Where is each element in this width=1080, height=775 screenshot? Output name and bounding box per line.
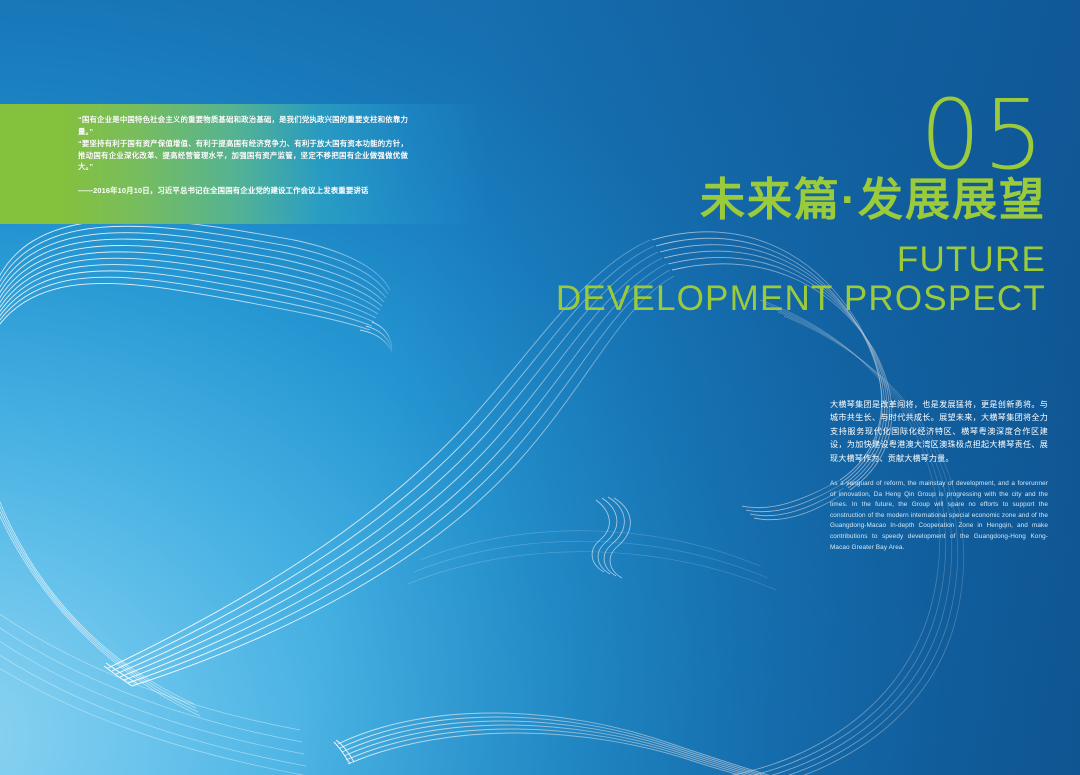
page-canvas: “国有企业是中国特色社会主义的重要物质基础和政治基础，是我们党执政兴国的重要支柱…	[0, 0, 1080, 775]
quote-banner-text: “国有企业是中国特色社会主义的重要物质基础和政治基础，是我们党执政兴国的重要支柱…	[78, 114, 408, 197]
chapter-title-english-line-2: DEVELOPMENT PROSPECT	[556, 279, 1046, 318]
body-copy-english: As a vanguard of reform, the mainstay of…	[830, 479, 1048, 553]
chapter-number: 05	[556, 92, 1046, 178]
quote-paragraph-2: “要坚持有利于国有资产保值增值、有利于提高国有经济竞争力、有利于放大国有资本功能…	[78, 138, 408, 173]
chapter-title-english: FUTURE DEVELOPMENT PROSPECT	[556, 240, 1046, 318]
chapter-title-english-line-1: FUTURE	[556, 240, 1046, 279]
chapter-heading: 05 未来篇·发展展望 FUTURE DEVELOPMENT PROSPECT	[556, 92, 1046, 318]
quote-banner: “国有企业是中国特色社会主义的重要物质基础和政治基础，是我们党执政兴国的重要支柱…	[0, 104, 486, 224]
body-copy-chinese: 大横琴集团是改革闯将，也是发展猛将，更是创新勇将。与城市共生长、与时代共成长。展…	[830, 398, 1048, 465]
quote-paragraph-1: “国有企业是中国特色社会主义的重要物质基础和政治基础，是我们党执政兴国的重要支柱…	[78, 114, 408, 137]
quote-attribution: ——2016年10月10日，习近平总书记在全国国有企业党的建设工作会议上发表重要…	[78, 185, 408, 197]
body-copy-block: 大横琴集团是改革闯将，也是发展猛将，更是创新勇将。与城市共生长、与时代共成长。展…	[830, 398, 1048, 553]
chapter-title-chinese: 未来篇·发展展望	[556, 174, 1046, 226]
